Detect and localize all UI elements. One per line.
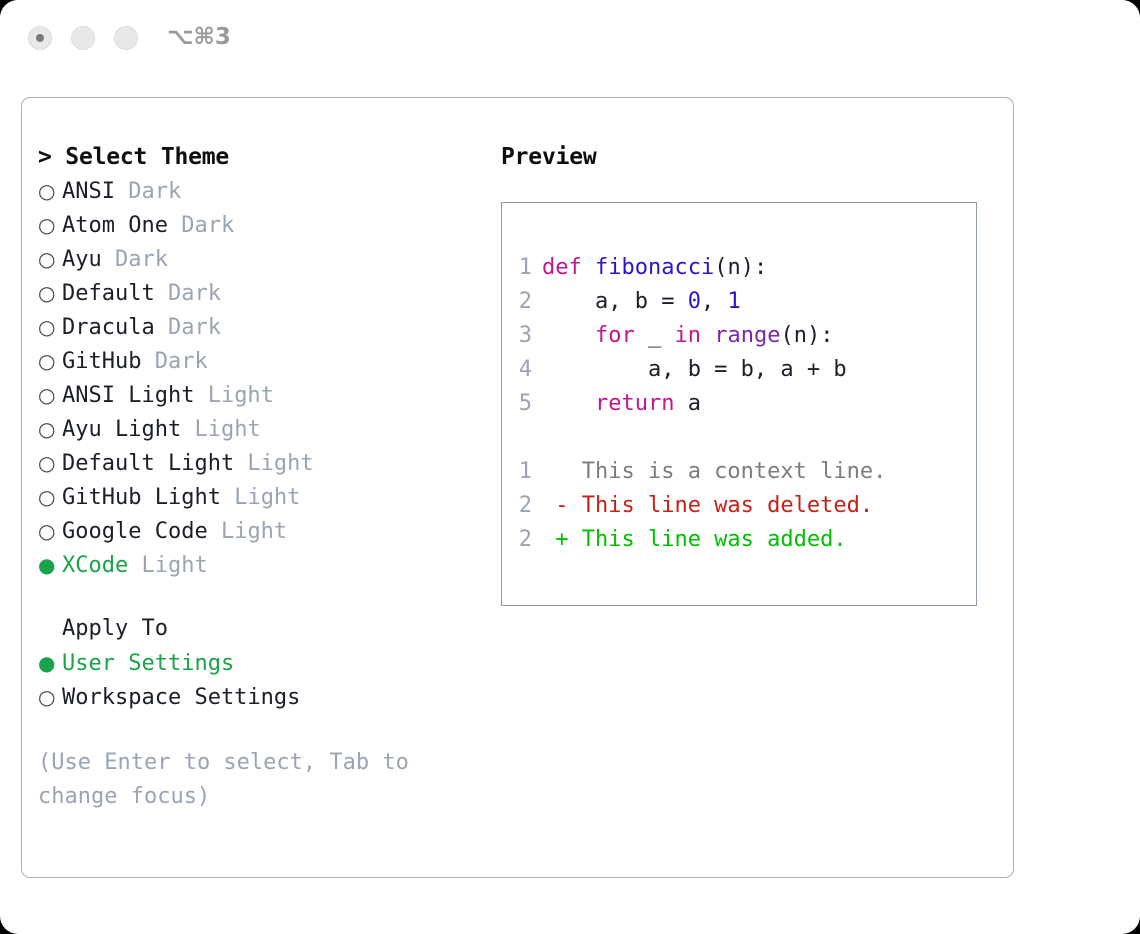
code-line: 1def fibonacci(n): bbox=[510, 251, 976, 285]
line-number: 2 bbox=[510, 489, 542, 523]
theme-list-item[interactable]: ○Default Dark bbox=[38, 276, 468, 310]
diff-line: 2 - This line was deleted. bbox=[510, 489, 976, 523]
theme-list-item[interactable]: ●XCode Light bbox=[38, 548, 468, 582]
select-theme-heading: > Select Theme bbox=[38, 140, 468, 174]
theme-name: ANSI Light bbox=[62, 379, 194, 413]
code-token: , bbox=[701, 289, 728, 314]
line-number: 1 bbox=[510, 251, 542, 285]
theme-selector-panel: > Select Theme ○ANSI Dark○Atom One Dark○… bbox=[21, 97, 1014, 878]
code-token: a bbox=[674, 391, 701, 416]
apply-to-option-label: Workspace Settings bbox=[62, 681, 300, 715]
theme-variant-badge: Light bbox=[194, 379, 273, 413]
theme-name: XCode bbox=[62, 549, 128, 583]
radio-unselected-icon[interactable]: ○ bbox=[38, 174, 62, 208]
theme-name: GitHub bbox=[62, 345, 141, 379]
code-token bbox=[701, 323, 714, 348]
theme-name: Ayu bbox=[62, 243, 102, 277]
theme-list-item[interactable]: ○GitHub Light Light bbox=[38, 480, 468, 514]
code-token: return bbox=[595, 391, 674, 416]
code-token: _ bbox=[635, 323, 675, 348]
theme-name: GitHub Light bbox=[62, 481, 221, 515]
theme-variant-badge: Dark bbox=[155, 311, 221, 345]
radio-unselected-icon[interactable]: ○ bbox=[38, 446, 62, 480]
theme-name: Dracula bbox=[62, 311, 155, 345]
code-line-content: a, b = b, a + b bbox=[542, 353, 847, 387]
radio-unselected-icon[interactable]: ○ bbox=[38, 208, 62, 242]
theme-variant-badge: Dark bbox=[102, 243, 168, 277]
theme-variant-badge: Dark bbox=[155, 277, 221, 311]
code-line: 5 return a bbox=[510, 387, 976, 421]
code-diff-spacer bbox=[510, 421, 976, 455]
code-token: (n): bbox=[714, 255, 767, 280]
keyboard-shortcut-label: ⌥⌘3 bbox=[167, 24, 231, 50]
code-token: (n): bbox=[780, 323, 833, 348]
radio-unselected-icon[interactable]: ○ bbox=[38, 680, 62, 714]
code-token: in bbox=[674, 323, 701, 348]
theme-variant-badge: Light bbox=[234, 447, 313, 481]
theme-variant-badge: Light bbox=[181, 413, 260, 447]
diff-line-content: + This line was added. bbox=[542, 523, 847, 557]
theme-list[interactable]: ○ANSI Dark○Atom One Dark○Ayu Dark○Defaul… bbox=[38, 174, 468, 582]
keyboard-hint-text: (Use Enter to select, Tab to change focu… bbox=[38, 746, 448, 814]
apply-to-list[interactable]: ●User Settings○Workspace Settings bbox=[38, 646, 468, 714]
code-line: 4 a, b = b, a + b bbox=[510, 353, 976, 387]
radio-unselected-icon[interactable]: ○ bbox=[38, 242, 62, 276]
code-token bbox=[542, 391, 595, 416]
apply-to-option[interactable]: ○Workspace Settings bbox=[38, 680, 468, 714]
code-token: 1 bbox=[727, 289, 740, 314]
code-line-content: for _ in range(n): bbox=[542, 319, 833, 353]
radio-unselected-icon[interactable]: ○ bbox=[38, 412, 62, 446]
code-token: 0 bbox=[688, 289, 701, 314]
diff-line: 1 This is a context line. bbox=[510, 455, 976, 489]
theme-name: Ayu Light bbox=[62, 413, 181, 447]
theme-name: Default Light bbox=[62, 447, 234, 481]
radio-selected-icon[interactable]: ● bbox=[38, 548, 62, 582]
code-token: def bbox=[542, 255, 582, 280]
diff-line-content: This is a context line. bbox=[542, 455, 886, 489]
radio-unselected-icon[interactable]: ○ bbox=[38, 480, 62, 514]
code-preview-box: 1def fibonacci(n):2 a, b = 0, 13 for _ i… bbox=[501, 202, 977, 606]
code-token: fibonacci bbox=[595, 255, 714, 280]
code-line-content: return a bbox=[542, 387, 701, 421]
line-number: 5 bbox=[510, 387, 542, 421]
radio-unselected-icon[interactable]: ○ bbox=[38, 378, 62, 412]
theme-name: Google Code bbox=[62, 515, 208, 549]
diff-line: 2 + This line was added. bbox=[510, 523, 976, 557]
code-line: 3 for _ in range(n): bbox=[510, 319, 976, 353]
theme-list-column: > Select Theme ○ANSI Dark○Atom One Dark○… bbox=[38, 140, 468, 814]
preview-heading: Preview bbox=[501, 140, 991, 174]
theme-name: Default bbox=[62, 277, 155, 311]
code-token: a, b = b, a + b bbox=[542, 357, 847, 382]
theme-variant-badge: Light bbox=[221, 481, 300, 515]
theme-variant-badge: Dark bbox=[115, 175, 181, 209]
theme-variant-badge: Light bbox=[208, 515, 287, 549]
window-controls[interactable] bbox=[28, 26, 138, 50]
line-number: 3 bbox=[510, 319, 542, 353]
theme-name: Atom One bbox=[62, 209, 168, 243]
window-dot-3[interactable] bbox=[114, 26, 138, 50]
radio-unselected-icon[interactable]: ○ bbox=[38, 276, 62, 310]
theme-list-item[interactable]: ○Ayu Dark bbox=[38, 242, 468, 276]
code-line: 2 a, b = 0, 1 bbox=[510, 285, 976, 319]
title-bar: ⌥⌘3 bbox=[0, 0, 1140, 78]
line-number: 2 bbox=[510, 523, 542, 557]
app-window: ⌥⌘3 > Select Theme ○ANSI Dark○Atom One D… bbox=[0, 0, 1140, 934]
theme-list-item[interactable]: ○Default Light Light bbox=[38, 446, 468, 480]
window-dot-active[interactable] bbox=[28, 26, 52, 50]
line-number: 4 bbox=[510, 353, 542, 387]
theme-list-item[interactable]: ○Ayu Light Light bbox=[38, 412, 468, 446]
code-line-content: a, b = 0, 1 bbox=[542, 285, 741, 319]
theme-name: ANSI bbox=[62, 175, 115, 209]
theme-list-item[interactable]: ○ANSI Light Light bbox=[38, 378, 468, 412]
code-token: for bbox=[595, 323, 635, 348]
window-dot-active-indicator bbox=[36, 34, 44, 42]
code-sample: 1def fibonacci(n):2 a, b = 0, 13 for _ i… bbox=[510, 251, 976, 421]
line-number: 1 bbox=[510, 455, 542, 489]
preview-column: Preview 1def fibonacci(n):2 a, b = 0, 13… bbox=[501, 140, 991, 606]
diff-line-content: - This line was deleted. bbox=[542, 489, 873, 523]
radio-unselected-icon[interactable]: ○ bbox=[38, 514, 62, 548]
theme-list-item[interactable]: ○ANSI Dark bbox=[38, 174, 468, 208]
code-line-content: def fibonacci(n): bbox=[542, 251, 767, 285]
theme-list-item[interactable]: ○Atom One Dark bbox=[38, 208, 468, 242]
apply-to-option[interactable]: ●User Settings bbox=[38, 646, 468, 680]
window-dot-2[interactable] bbox=[71, 26, 95, 50]
code-token bbox=[582, 255, 595, 280]
code-token: range bbox=[714, 323, 780, 348]
list-spacer bbox=[38, 582, 468, 612]
line-number: 2 bbox=[510, 285, 542, 319]
code-token: a, b = bbox=[542, 289, 688, 314]
diff-sample: 1 This is a context line.2 - This line w… bbox=[510, 455, 976, 557]
code-token bbox=[542, 323, 595, 348]
theme-variant-badge: Dark bbox=[168, 209, 234, 243]
apply-to-heading: Apply To bbox=[38, 612, 468, 646]
radio-selected-icon[interactable]: ● bbox=[38, 646, 62, 680]
theme-variant-badge: Dark bbox=[141, 345, 207, 379]
theme-list-item[interactable]: ○Google Code Light bbox=[38, 514, 468, 548]
theme-variant-badge: Light bbox=[128, 549, 207, 583]
apply-to-option-label: User Settings bbox=[62, 647, 234, 681]
radio-unselected-icon[interactable]: ○ bbox=[38, 310, 62, 344]
theme-list-item[interactable]: ○GitHub Dark bbox=[38, 344, 468, 378]
radio-unselected-icon[interactable]: ○ bbox=[38, 344, 62, 378]
theme-list-item[interactable]: ○Dracula Dark bbox=[38, 310, 468, 344]
